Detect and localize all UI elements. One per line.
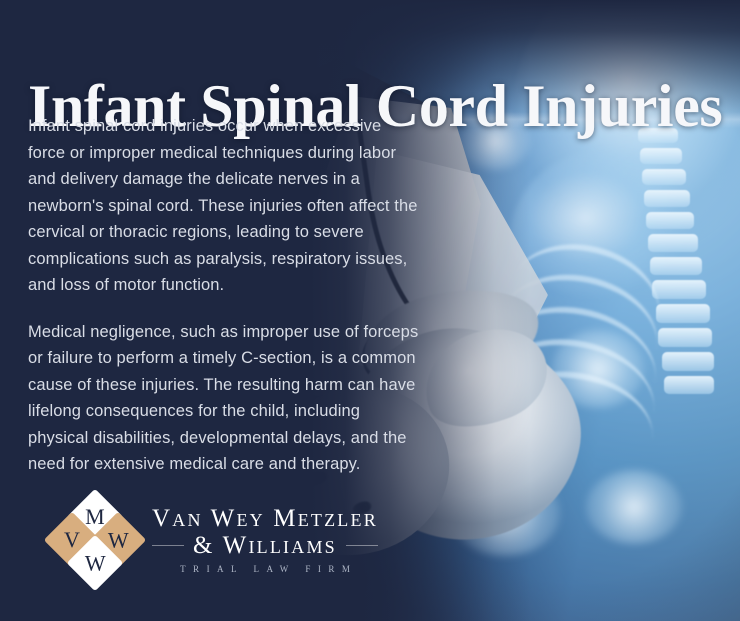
logo-diamond-mark: M V W W bbox=[52, 497, 138, 583]
logo-diamond-letter: W bbox=[108, 529, 129, 551]
logo-diamond-letter: W bbox=[85, 552, 106, 574]
body-paragraph-1: Infant spinal cord injuries occur when e… bbox=[28, 113, 420, 299]
wordmark-rule-left bbox=[152, 545, 184, 546]
wordmark-rule-right bbox=[346, 545, 378, 546]
body-paragraph-2: Medical negligence, such as improper use… bbox=[28, 319, 420, 478]
logo-diamond-letter: M bbox=[85, 506, 105, 528]
firm-logo[interactable]: M V W W Van Wey Metzler & Williams TRIAL… bbox=[52, 497, 378, 583]
firm-name-line-2: & Williams bbox=[193, 533, 337, 560]
body-copy: Infant spinal cord injuries occur when e… bbox=[28, 113, 420, 478]
firm-name-line-1: Van Wey Metzler bbox=[152, 506, 378, 533]
firm-tagline: TRIAL LAW FIRM bbox=[173, 564, 358, 574]
logo-wordmark: Van Wey Metzler & Williams TRIAL LAW FIR… bbox=[152, 506, 378, 574]
firm-name-row-2: & Williams bbox=[152, 533, 378, 560]
infographic-poster: Infant Spinal Cord Injuries Infant spina… bbox=[0, 0, 740, 621]
logo-diamond-letter: V bbox=[64, 529, 80, 551]
